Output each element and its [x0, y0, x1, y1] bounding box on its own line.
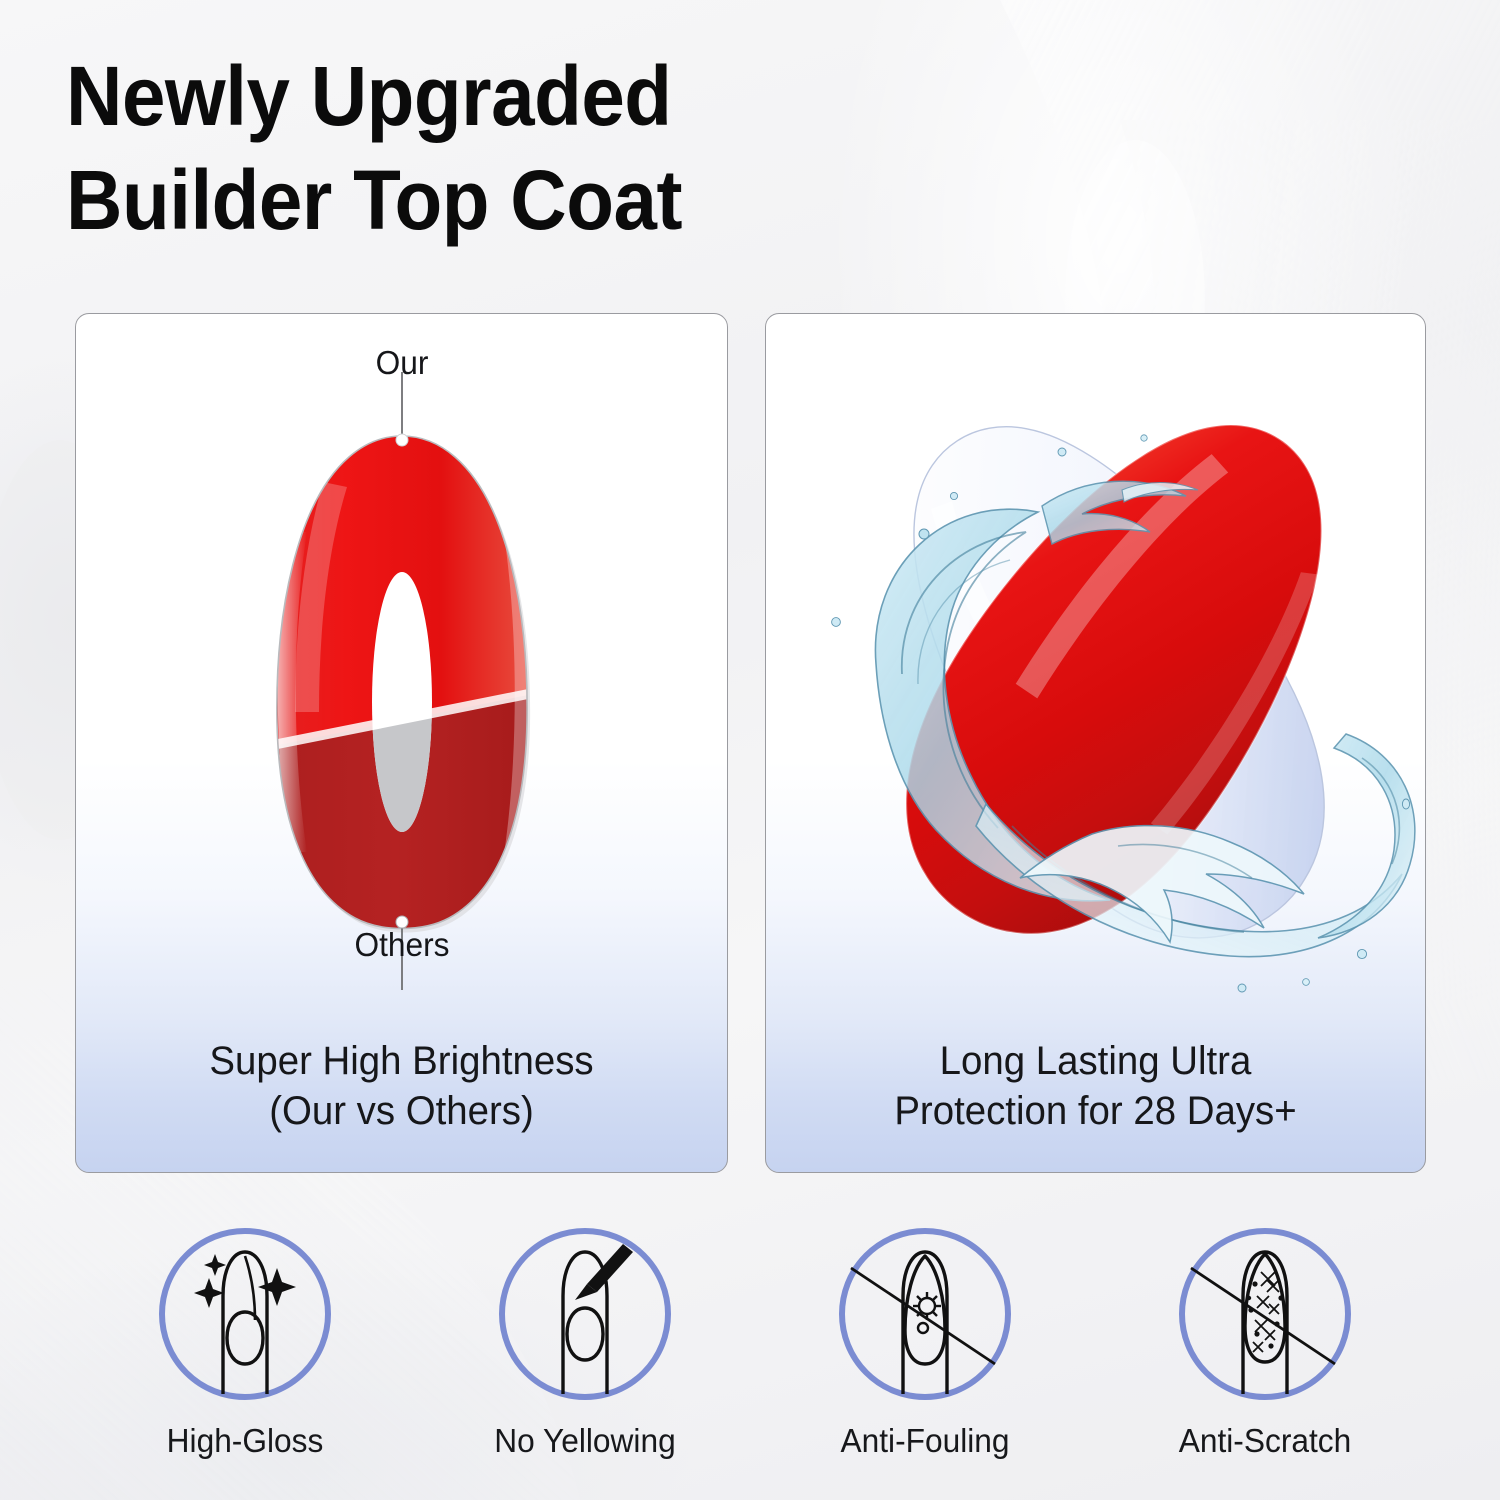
nail-scratch-slash-icon: [1185, 1234, 1345, 1394]
feature-circle-no-yellowing: [499, 1228, 671, 1400]
headline-line-2: Builder Top Coat: [66, 148, 903, 252]
feature-label-high-gloss: High-Gloss: [101, 1422, 389, 1460]
feature-card-brightness: Our Others Super High Brightness (Our vs…: [75, 313, 728, 1173]
feature-anti-scratch: Anti-Scratch: [1115, 1228, 1415, 1460]
caption-line-2: (Our vs Others): [89, 1086, 714, 1136]
callout-our-label: Our: [287, 344, 517, 382]
headline-line-1: Newly Upgraded: [66, 44, 903, 148]
nail-brush-icon: [505, 1234, 665, 1394]
feature-icon-row: High-Gloss No Yellowing: [0, 1228, 1500, 1500]
page-title: Newly Upgraded Builder Top Coat: [66, 44, 966, 252]
feature-label-no-yellowing: No Yellowing: [441, 1422, 729, 1460]
feature-anti-fouling: Anti-Fouling: [775, 1228, 1075, 1460]
feature-circle-anti-scratch: [1179, 1228, 1351, 1400]
feature-no-yellowing: No Yellowing: [435, 1228, 735, 1460]
nail-sparkle-icon: [165, 1234, 325, 1394]
split-nail-comparison-illustration: [76, 314, 728, 1014]
feature-label-anti-scratch: Anti-Scratch: [1121, 1422, 1409, 1460]
caption-line-2: Protection for 28 Days+: [779, 1086, 1412, 1136]
feature-card-protection: Long Lasting Ultra Protection for 28 Day…: [765, 313, 1426, 1173]
nail-germ-slash-icon: [845, 1234, 1005, 1394]
card-caption-protection: Long Lasting Ultra Protection for 28 Day…: [779, 1036, 1412, 1136]
feature-high-gloss: High-Gloss: [95, 1228, 395, 1460]
feature-circle-high-gloss: [159, 1228, 331, 1400]
water-splash-nails-illustration: [766, 314, 1426, 1014]
caption-line-1: Long Lasting Ultra: [779, 1036, 1412, 1086]
caption-line-1: Super High Brightness: [89, 1036, 714, 1086]
card-caption-brightness: Super High Brightness (Our vs Others): [89, 1036, 714, 1136]
feature-label-anti-fouling: Anti-Fouling: [781, 1422, 1069, 1460]
callout-others-label: Others: [287, 926, 517, 964]
feature-circle-anti-fouling: [839, 1228, 1011, 1400]
